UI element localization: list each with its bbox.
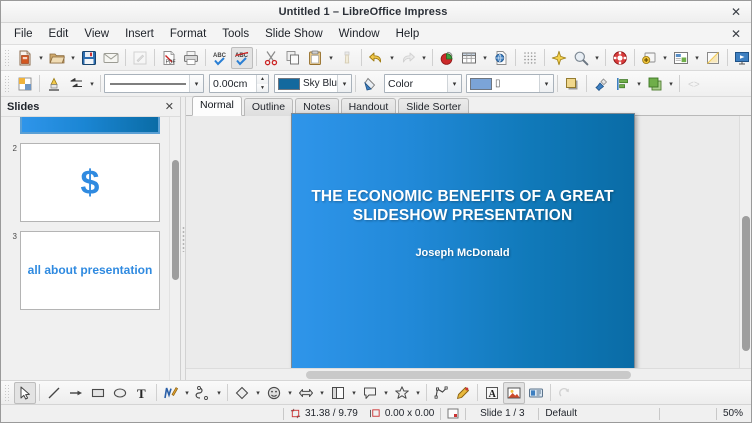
save-document-icon[interactable] (78, 47, 100, 69)
flowchart-shapes-icon[interactable] (327, 382, 349, 404)
slide-layout-icon[interactable] (670, 47, 692, 69)
block-arrows-icon[interactable] (295, 382, 317, 404)
line-width-spinner[interactable]: 0.00cm ▲ ▼ (209, 74, 269, 93)
status-bar: 31.38 / 9.79 0.00 x 0.00 Slide 1 / 3 Def… (1, 404, 751, 422)
rectangle-tool-icon[interactable] (87, 382, 109, 404)
help-icon[interactable] (609, 47, 631, 69)
line-width-decrease-icon[interactable]: ▼ (257, 84, 268, 93)
new-document-icon[interactable] (14, 47, 36, 69)
slides-panel-header: Slides ✕ (1, 97, 180, 116)
impress-window: Untitled 1 – LibreOffice Impress ✕ File … (0, 0, 752, 423)
window-close-button[interactable]: ✕ (725, 2, 747, 22)
line-color-label: Sky Blu (303, 78, 337, 89)
size-icon (370, 408, 381, 419)
callout-dropdown-icon[interactable]: ▾ (381, 382, 391, 404)
paste-dropdown-icon[interactable]: ▾ (326, 47, 336, 69)
line-style-preview (105, 79, 189, 89)
insert-chart-icon[interactable] (436, 47, 458, 69)
display-views-icon[interactable] (548, 47, 570, 69)
toolbar-separator (39, 384, 40, 401)
title-bar: Untitled 1 – LibreOffice Impress ✕ (1, 1, 751, 23)
callout-shapes-icon[interactable] (359, 382, 381, 404)
standard-toolbar: ▾ ▾ (1, 45, 751, 71)
toolbar-separator (550, 384, 551, 401)
line-width-spin-buttons[interactable]: ▲ ▼ (256, 75, 268, 92)
clone-formatting-icon[interactable] (336, 47, 358, 69)
line-color-swatch (278, 78, 300, 90)
toolbar-separator (586, 75, 587, 92)
fontwork-icon[interactable]: A (481, 382, 503, 404)
drawing-toolbar: T ▾ ▾ ▾ (1, 380, 751, 404)
insert-hyperlink-icon[interactable] (490, 47, 512, 69)
text-box-tool-icon[interactable]: T (131, 382, 153, 404)
menu-insert[interactable]: Insert (117, 25, 162, 43)
canvas-row: THE ECONOMIC BENEFITS OF A GREAT SLIDESH… (186, 116, 751, 368)
block-arrows-dropdown-icon[interactable]: ▾ (317, 382, 327, 404)
arrange-dropdown-icon[interactable]: ▾ (666, 73, 676, 95)
arrow-tool-icon[interactable] (65, 382, 87, 404)
slide-canvas[interactable]: THE ECONOMIC BENEFITS OF A GREAT SLIDESH… (186, 116, 739, 368)
fill-color-label: ▯ (495, 78, 501, 89)
toolbar-separator (515, 49, 516, 66)
redo-dropdown-icon[interactable]: ▾ (419, 47, 429, 69)
position-and-size-icon[interactable] (14, 73, 36, 95)
edit-mode-icon[interactable] (129, 47, 151, 69)
slides-list: 1 2 $ 3 (1, 117, 169, 380)
insert-media-icon[interactable] (525, 382, 547, 404)
status-separator (659, 408, 660, 420)
slide-layout-dropdown-icon[interactable]: ▾ (692, 47, 702, 69)
canvas-vertical-scroll-thumb[interactable] (742, 216, 750, 351)
slides-panel-vertical-scrollbar[interactable] (169, 117, 180, 380)
canvas-horizontal-scrollbar[interactable] (186, 368, 751, 380)
zoom-dropdown-icon[interactable]: ▾ (592, 47, 602, 69)
toolbar-grip[interactable] (4, 384, 11, 402)
toolbar-separator (477, 384, 478, 401)
undo-dropdown-icon[interactable]: ▾ (387, 47, 397, 69)
menu-slide-show[interactable]: Slide Show (257, 25, 331, 43)
fill-color-dropdown-icon[interactable]: ▾ (539, 75, 553, 92)
slide-number-2: 2 (7, 143, 20, 222)
line-style-dialog-icon[interactable] (43, 73, 65, 95)
paste-icon[interactable] (304, 47, 326, 69)
points-icon[interactable]: <> (683, 73, 705, 95)
email-document-icon[interactable] (100, 47, 122, 69)
basic-shapes-icon[interactable] (231, 382, 253, 404)
toolbar-separator (426, 384, 427, 401)
toolbar-separator (557, 75, 558, 92)
toolbar-grip[interactable] (4, 75, 11, 93)
svg-text:ABC: ABC (213, 53, 227, 59)
slide-thumbnail-2-image[interactable]: $ (20, 143, 160, 222)
menu-edit[interactable]: Edit (41, 25, 77, 43)
glue-points-icon[interactable] (452, 382, 474, 404)
symbol-shapes-dropdown-icon[interactable]: ▾ (285, 382, 295, 404)
dollar-symbol: $ (81, 166, 100, 200)
master-slide-value: Default (545, 408, 577, 419)
curve-dropdown-icon[interactable]: ▾ (182, 382, 192, 404)
toolbar-separator (355, 75, 356, 92)
slide-number-1: 1 (7, 117, 20, 134)
open-document-dropdown-icon[interactable]: ▾ (68, 47, 78, 69)
select-tool-icon[interactable] (14, 382, 36, 404)
new-slide-icon[interactable] (638, 47, 660, 69)
slides-panel: Slides ✕ 1 2 $ (1, 97, 181, 380)
slide-thumbnail-3-image[interactable]: all about presentation (20, 231, 160, 310)
line-color-combo[interactable]: Sky Blu ▾ (274, 74, 352, 93)
object-size-cell: 0.00 x 0.00 (364, 405, 440, 422)
cut-icon[interactable] (260, 47, 282, 69)
arrow-style-dropdown-icon[interactable]: ▾ (87, 73, 97, 95)
stars-dropdown-icon[interactable]: ▾ (413, 382, 423, 404)
open-document-icon[interactable] (46, 47, 68, 69)
line-width-increase-icon[interactable]: ▲ (257, 75, 268, 84)
shadow-icon[interactable] (561, 73, 583, 95)
menu-window[interactable]: Window (331, 25, 388, 43)
menu-view[interactable]: View (76, 25, 117, 43)
toolbar-separator (100, 75, 101, 92)
connector-dropdown-icon[interactable]: ▾ (214, 382, 224, 404)
object-size-value: 0.00 x 0.00 (385, 408, 434, 419)
edit-points-icon[interactable] (430, 382, 452, 404)
canvas-vertical-scrollbar[interactable] (739, 116, 751, 368)
current-slide[interactable]: THE ECONOMIC BENEFITS OF A GREAT SLIDESH… (291, 113, 635, 371)
menu-help[interactable]: Help (388, 25, 428, 43)
new-document-dropdown-icon[interactable]: ▾ (36, 47, 46, 69)
slides-panel-scroll-thumb[interactable] (172, 160, 179, 280)
display-grid-icon[interactable] (519, 47, 541, 69)
curve-tool-icon[interactable] (160, 382, 182, 404)
area-style-dropdown-icon[interactable]: ▾ (447, 75, 461, 92)
new-slide-dropdown-icon[interactable]: ▾ (660, 47, 670, 69)
toolbar-separator (432, 49, 433, 66)
spelling-icon[interactable]: ABC (209, 47, 231, 69)
toolbar-grip[interactable] (4, 49, 11, 67)
tab-normal[interactable]: Normal (192, 96, 242, 116)
document-modified-cell[interactable] (441, 405, 465, 422)
workspace: Slides ✕ 1 2 $ (1, 97, 751, 380)
svg-text:T: T (137, 386, 146, 401)
tab-outline[interactable]: Outline (244, 98, 293, 116)
slide-number-3: 3 (7, 231, 20, 310)
toolbar-separator (154, 49, 155, 66)
line-style-combo[interactable]: ▾ (104, 74, 204, 93)
toolbar-separator (205, 49, 206, 66)
insert-table-dropdown-icon[interactable]: ▾ (480, 47, 490, 69)
toolbar-separator (227, 384, 228, 401)
main-editing-area: Normal Outline Notes Handout Slide Sorte… (186, 97, 751, 380)
zoom-icon[interactable] (570, 47, 592, 69)
fill-color-swatch (470, 78, 492, 90)
slide-title-text[interactable]: THE ECONOMIC BENEFITS OF A GREAT SLIDESH… (305, 188, 620, 226)
toolbar-separator (361, 49, 362, 66)
area-style-combo[interactable]: Color ▾ (384, 74, 462, 93)
slide-indicator-value: Slide 1 / 3 (480, 408, 524, 419)
autospellcheck-icon[interactable]: ABC (231, 47, 253, 69)
cursor-position-cell: 31.38 / 9.79 (284, 405, 364, 422)
slide-indicator-cell: Slide 1 / 3 (466, 405, 538, 422)
zoom-level-cell[interactable]: 50% (717, 405, 751, 422)
align-objects-icon[interactable] (612, 73, 634, 95)
print-icon[interactable] (180, 47, 202, 69)
slide-1-gradient (22, 117, 158, 132)
line-width-value[interactable]: 0.00cm (210, 78, 256, 90)
line-style-dropdown-icon[interactable]: ▾ (189, 75, 203, 92)
toolbar-separator (544, 49, 545, 66)
start-slideshow-icon[interactable] (731, 47, 752, 69)
menu-bar: File Edit View Insert Format Tools Slide… (1, 23, 751, 45)
arrange-icon[interactable] (644, 73, 666, 95)
area-style-dialog-icon[interactable] (359, 73, 381, 95)
modified-indicator-icon (447, 408, 459, 419)
area-style-label: Color (385, 78, 447, 90)
svg-text:PDF: PDF (166, 59, 176, 65)
menu-tools[interactable]: Tools (214, 25, 257, 43)
line-tool-icon[interactable] (43, 382, 65, 404)
toolbar-separator (256, 49, 257, 66)
toolbar-separator (156, 384, 157, 401)
slide-thumbnail-3[interactable]: 3 all about presentation (7, 231, 169, 310)
slide-thumbnail-1[interactable]: 1 (7, 117, 169, 134)
toolbar-separator (634, 49, 635, 66)
line-and-fill-toolbar: ▾ ▾ 0.00cm ▲ ▼ Sky Blu ▾ (1, 71, 751, 97)
align-objects-dropdown-icon[interactable]: ▾ (634, 73, 644, 95)
filter-icon[interactable] (590, 73, 612, 95)
zoom-level-value: 50% (723, 408, 743, 419)
slide-subtitle-text[interactable]: Joseph McDonald (415, 247, 509, 259)
connector-tool-icon[interactable] (192, 382, 214, 404)
document-close-button[interactable]: ✕ (725, 24, 747, 44)
slides-panel-title: Slides (7, 101, 163, 113)
ellipse-tool-icon[interactable] (109, 382, 131, 404)
slide-thumbnail-2[interactable]: 2 $ (7, 143, 169, 222)
toolbar-separator (679, 75, 680, 92)
position-icon (290, 408, 301, 419)
cursor-position-value: 31.38 / 9.79 (305, 408, 358, 419)
arrow-style-icon[interactable] (65, 73, 87, 95)
slides-panel-close-icon[interactable]: ✕ (163, 100, 176, 113)
undo-icon[interactable] (365, 47, 387, 69)
toolbar-separator (39, 75, 40, 92)
symbol-shapes-icon[interactable] (263, 382, 285, 404)
slides-panel-scroll-area: 1 2 $ 3 (1, 116, 180, 380)
window-title: Untitled 1 – LibreOffice Impress (1, 6, 725, 18)
svg-text:A: A (489, 389, 497, 400)
basic-shapes-dropdown-icon[interactable]: ▾ (253, 382, 263, 404)
master-slide-cell: Default (539, 405, 659, 422)
toolbar-separator (727, 49, 728, 66)
svg-text:<>: <> (688, 79, 700, 90)
rotate-tool-icon[interactable] (554, 382, 576, 404)
master-slide-icon[interactable] (702, 47, 724, 69)
export-pdf-icon[interactable]: PDF (158, 47, 180, 69)
copy-icon[interactable] (282, 47, 304, 69)
toolbar-separator (605, 49, 606, 66)
menu-format[interactable]: Format (162, 25, 214, 43)
insert-table-icon[interactable] (458, 47, 480, 69)
insert-image-icon[interactable] (503, 382, 525, 404)
menu-file[interactable]: File (6, 25, 41, 43)
slide-thumbnail-1-image[interactable] (20, 117, 160, 134)
canvas-horizontal-scroll-thumb[interactable] (306, 371, 631, 379)
flowchart-dropdown-icon[interactable]: ▾ (349, 382, 359, 404)
slide-3-text: all about presentation (22, 264, 159, 278)
toolbar-separator (125, 49, 126, 66)
line-color-dropdown-icon[interactable]: ▾ (337, 75, 351, 92)
redo-icon[interactable] (397, 47, 419, 69)
fill-color-combo[interactable]: ▯ ▾ (466, 74, 554, 93)
stars-shapes-icon[interactable] (391, 382, 413, 404)
